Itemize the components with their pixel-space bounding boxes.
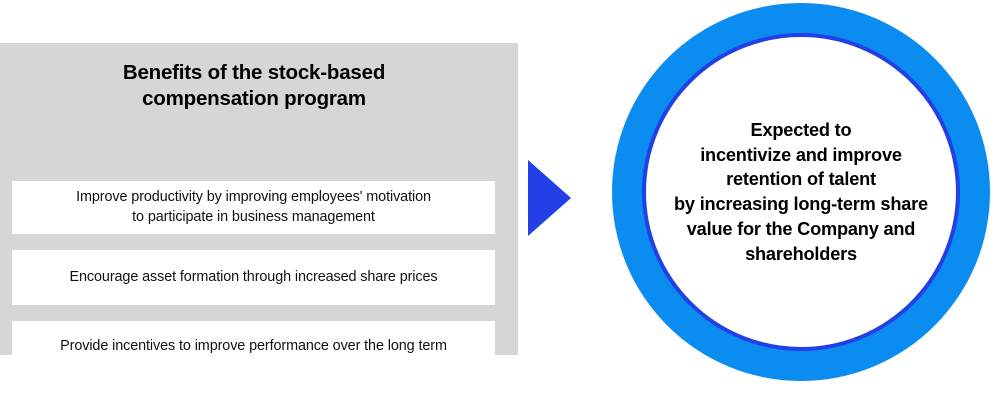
outcome-circle-inner-ring: Expected to incentivize and improve rete…: [642, 33, 960, 351]
outcome-line-2: incentivize and improve: [652, 143, 950, 168]
outcome-circle: Expected to incentivize and improve rete…: [612, 3, 990, 381]
benefit-item-1: Improve productivity by improving employ…: [12, 181, 495, 234]
benefit-item-2: Encourage asset formation through increa…: [12, 250, 495, 305]
benefit-item-1-text: Improve productivity by improving employ…: [76, 188, 431, 226]
benefit-item-3-text: Provide incentives to improve performanc…: [60, 337, 447, 356]
outcome-line-5: value for the Company and: [652, 217, 950, 242]
outcome-text: Expected to incentivize and improve rete…: [652, 118, 950, 267]
benefit-item-2-text: Encourage asset formation through increa…: [70, 268, 438, 287]
benefit-item-1-line-2: to participate in business management: [132, 209, 375, 225]
outcome-line-1: Expected to: [652, 118, 950, 143]
outcome-line-4: by increasing long-term share: [652, 192, 950, 217]
diagram-canvas: Benefits of the stock-based compensation…: [0, 0, 1000, 400]
right-arrow-icon: [528, 160, 571, 236]
benefit-item-3: Provide incentives to improve performanc…: [12, 321, 495, 373]
benefits-panel: Benefits of the stock-based compensation…: [0, 43, 518, 355]
panel-title: Benefits of the stock-based compensation…: [12, 60, 496, 112]
benefit-item-1-line-1: Improve productivity by improving employ…: [76, 189, 431, 205]
panel-title-line-1: Benefits of the stock-based: [123, 61, 385, 84]
outcome-line-6: shareholders: [652, 242, 950, 267]
panel-title-line-2: compensation program: [142, 87, 366, 110]
outcome-circle-core: Expected to incentivize and improve rete…: [652, 43, 950, 341]
outcome-line-3: retention of talent: [652, 167, 950, 192]
